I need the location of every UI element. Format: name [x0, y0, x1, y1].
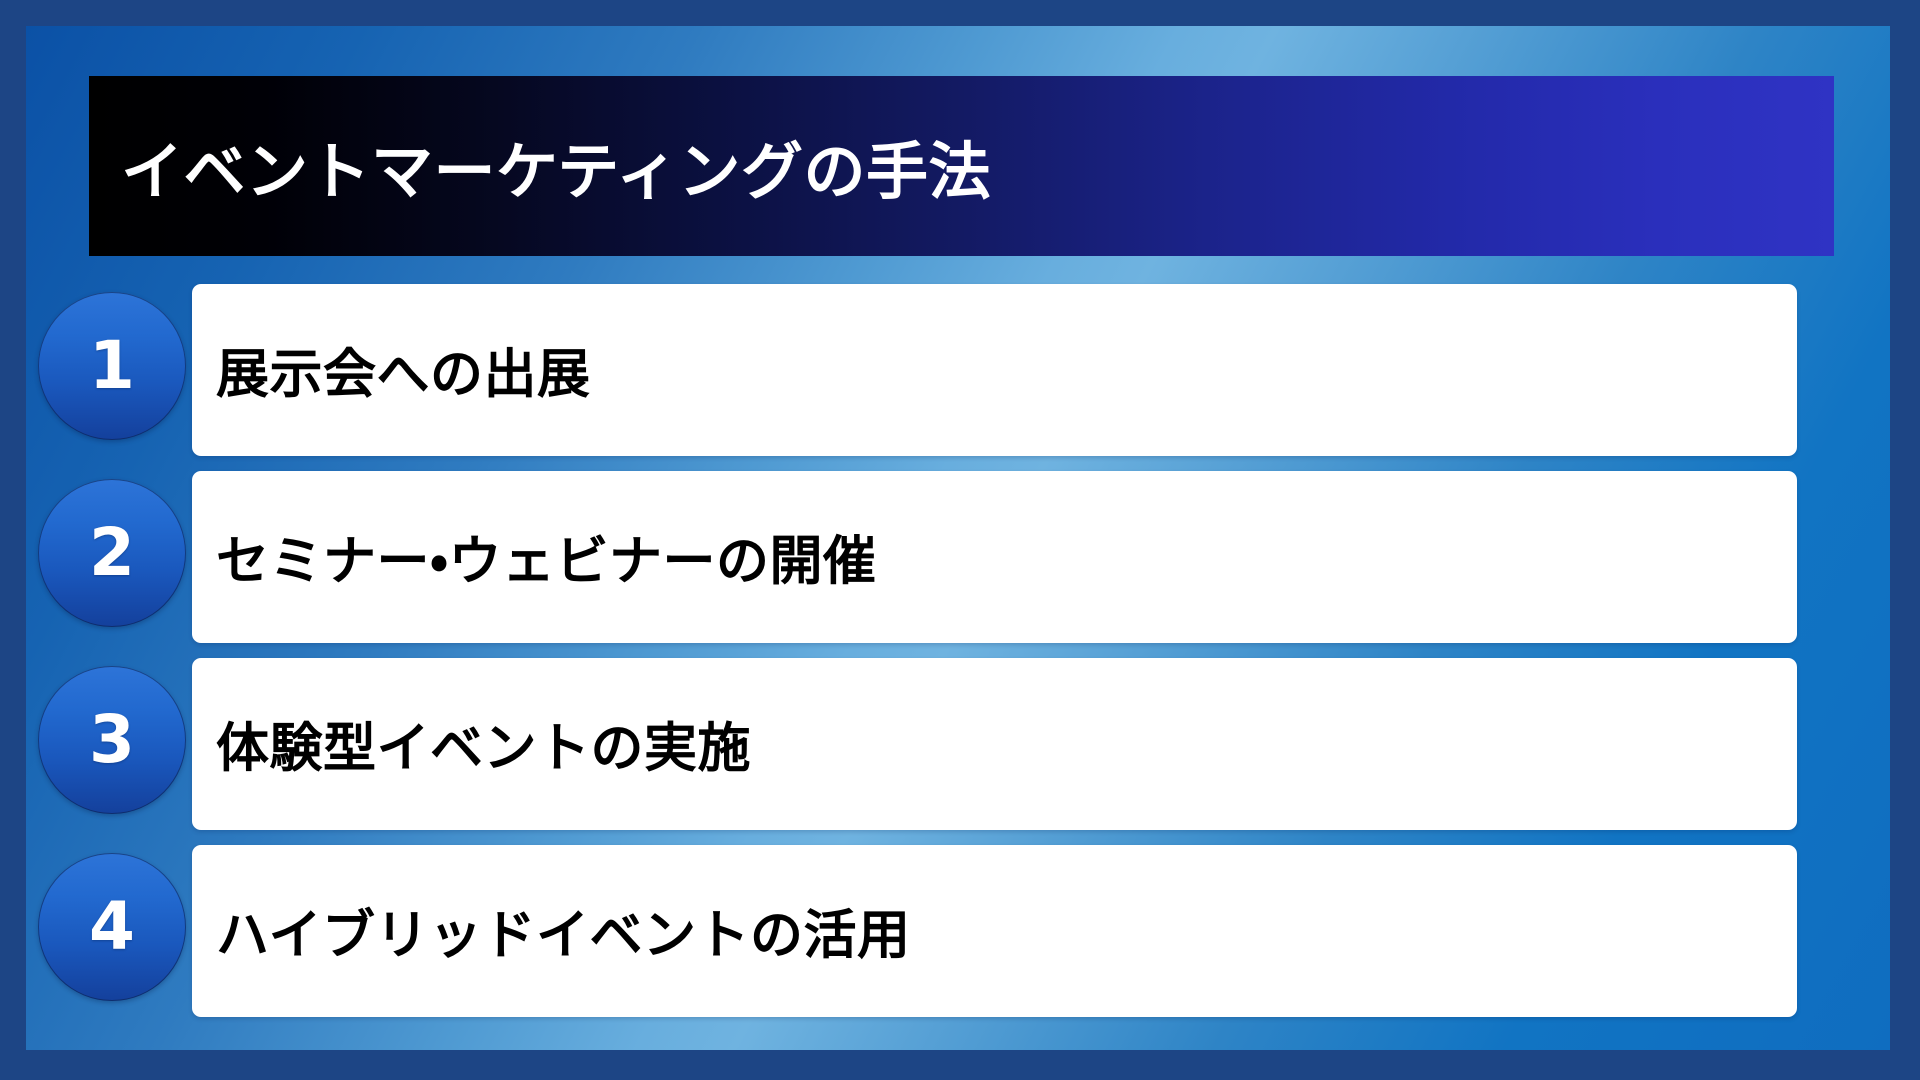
- list-item-card-3[interactable]: 体験型イベントの実施: [192, 658, 1797, 830]
- list-item-card-2[interactable]: セミナー・ウェビナーの開催: [192, 471, 1797, 643]
- badge-number: 1: [89, 333, 135, 399]
- slide-panel: イベントマーケティングの手法 1 展示会への出展 2 セミナー・ウェビナーの開催: [26, 26, 1890, 1050]
- list-item[interactable]: 4 ハイブリッドイベントの活用: [26, 845, 1890, 1017]
- number-badge-1: 1: [38, 292, 186, 440]
- title-bar: イベントマーケティングの手法: [89, 76, 1834, 256]
- list-item-card-1[interactable]: 展示会への出展: [192, 284, 1797, 456]
- slide-frame: イベントマーケティングの手法 1 展示会への出展 2 セミナー・ウェビナーの開催: [0, 0, 1920, 1080]
- list-item-card-4[interactable]: ハイブリッドイベントの活用: [192, 845, 1797, 1017]
- list-item-label: セミナー・ウェビナーの開催: [192, 519, 877, 595]
- numbered-list: 1 展示会への出展 2 セミナー・ウェビナーの開催 3 体験: [26, 284, 1890, 1017]
- badge-number: 4: [89, 894, 135, 960]
- list-item[interactable]: 3 体験型イベントの実施: [26, 658, 1890, 830]
- page-title: イベントマーケティングの手法: [89, 121, 991, 211]
- number-badge-4: 4: [38, 853, 186, 1001]
- badge-number: 2: [89, 520, 135, 586]
- list-item[interactable]: 2 セミナー・ウェビナーの開催: [26, 471, 1890, 643]
- badge-number: 3: [89, 707, 135, 773]
- list-item[interactable]: 1 展示会への出展: [26, 284, 1890, 456]
- number-badge-3: 3: [38, 666, 186, 814]
- list-item-label: ハイブリッドイベントの活用: [192, 893, 910, 969]
- number-badge-2: 2: [38, 479, 186, 627]
- list-item-label: 体験型イベントの実施: [192, 706, 751, 782]
- list-item-label: 展示会への出展: [192, 332, 591, 408]
